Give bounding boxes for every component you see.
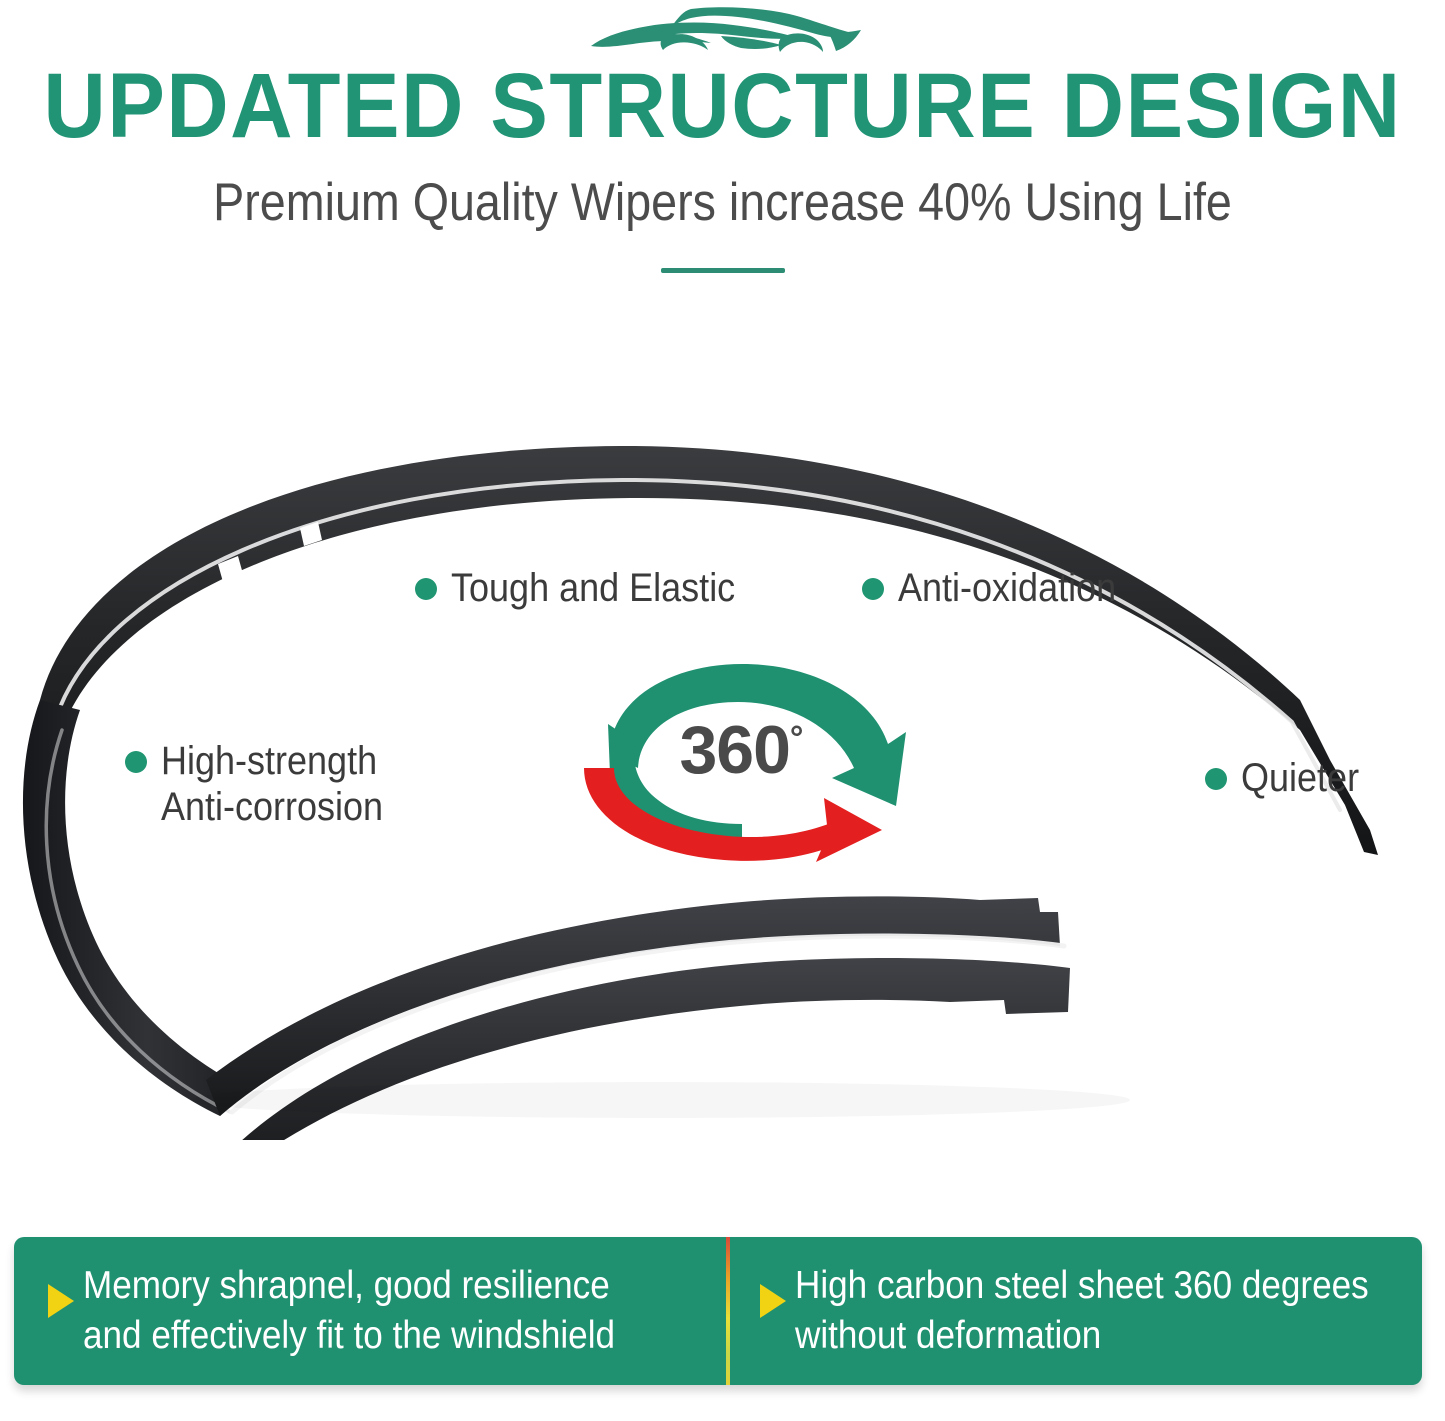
triangle-right-icon xyxy=(48,1284,74,1318)
page-subtitle: Premium Quality Wipers increase 40% Usin… xyxy=(87,172,1359,234)
banner-text-line1: Memory shrapnel, good resilience xyxy=(83,1264,610,1307)
badge-value: 360° xyxy=(566,714,916,786)
feature-label: High-strength xyxy=(161,739,377,783)
badge-number: 360 xyxy=(679,712,789,788)
infographic-page: UPDATED STRUCTURE DESIGN Premium Quality… xyxy=(0,0,1445,1421)
banner-text-line2: and effectively fit to the windshield xyxy=(83,1311,615,1361)
bullet-dot-icon xyxy=(125,751,147,773)
feature-tough-and-elastic: Tough and Elastic xyxy=(415,565,767,611)
feature-anti-oxidation: Anti-oxidation xyxy=(862,565,1140,611)
banner-column-right: High carbon steel sheet 360 degrees with… xyxy=(726,1237,1422,1385)
feature-banner: Memory shrapnel, good resilience and eff… xyxy=(14,1237,1422,1385)
banner-text-line1: High carbon steel sheet 360 degrees xyxy=(795,1264,1369,1307)
triangle-right-icon xyxy=(760,1284,786,1318)
title-underline-rule xyxy=(661,268,785,273)
feature-label: Quieter xyxy=(1241,755,1359,801)
banner-text-line2: without deformation xyxy=(795,1311,1369,1361)
bullet-dot-icon xyxy=(415,578,437,600)
feature-label: Anti-oxidation xyxy=(898,565,1116,611)
banner-column-left: Memory shrapnel, good resilience and eff… xyxy=(14,1237,726,1385)
feature-high-strength-anti-corrosion: High-strength Anti-corrosion xyxy=(125,738,408,830)
feature-quieter: Quieter xyxy=(1205,755,1372,801)
car-silhouette-icon xyxy=(0,6,1445,62)
feature-label-line2: Anti-corrosion xyxy=(161,784,383,830)
bullet-dot-icon xyxy=(862,578,884,600)
page-title: UPDATED STRUCTURE DESIGN xyxy=(43,58,1401,154)
degree-symbol: ° xyxy=(790,719,803,757)
feature-label: Tough and Elastic xyxy=(451,565,735,611)
bullet-dot-icon xyxy=(1205,768,1227,790)
badge-360-degrees: 360° xyxy=(566,658,916,880)
